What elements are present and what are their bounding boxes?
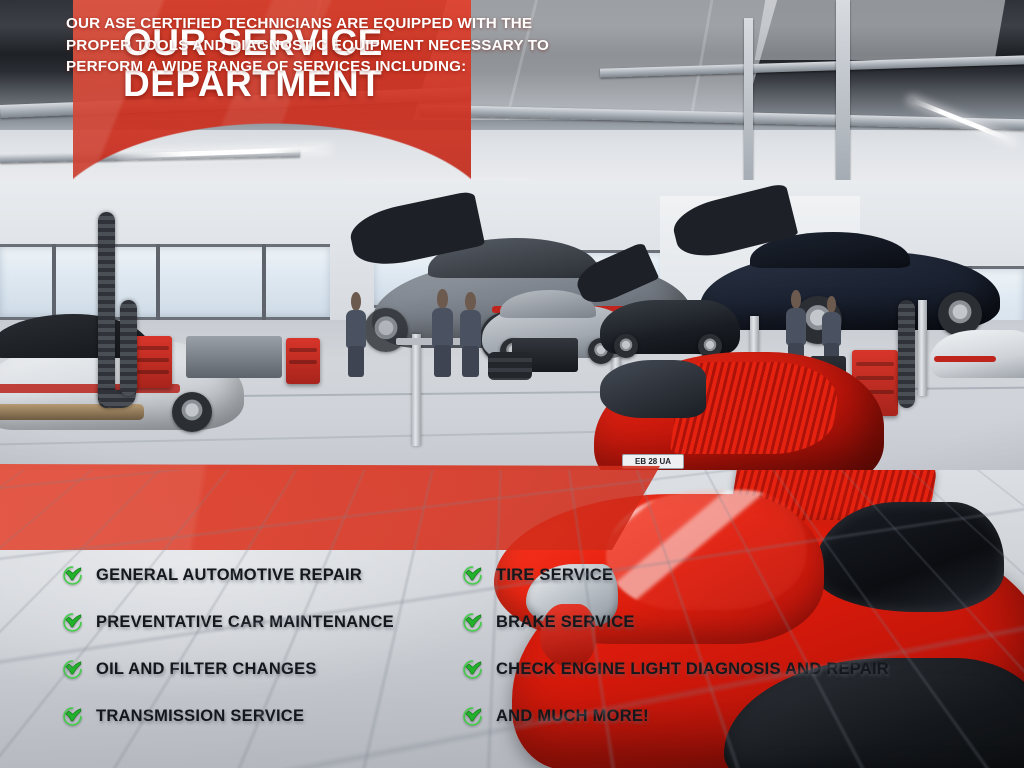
description-band: [0, 464, 660, 550]
list-item-label: GENERAL AUTOMOTIVE REPAIR: [96, 566, 362, 585]
check-icon: [62, 706, 83, 727]
list-item-label: CHECK ENGINE LIGHT DIAGNOSIS AND REPAIR: [496, 660, 889, 679]
list-item-label: OIL AND FILTER CHANGES: [96, 660, 317, 679]
check-icon: [462, 706, 483, 727]
list-item-label: TRANSMISSION SERVICE: [96, 707, 304, 726]
check-icon: [462, 659, 483, 680]
services-column-right: TIRE SERVICE BRAKE SERVICE CHECK ENGINE …: [460, 552, 980, 742]
list-item: PREVENTATIVE CAR MAINTENANCE: [62, 599, 460, 646]
list-item-label: BRAKE SERVICE: [496, 613, 635, 632]
services-lists: GENERAL AUTOMOTIVE REPAIR PREVENTATIVE C…: [0, 552, 1024, 742]
services-column-left: GENERAL AUTOMOTIVE REPAIR PREVENTATIVE C…: [0, 552, 460, 742]
check-icon: [62, 565, 83, 586]
list-item-label: TIRE SERVICE: [496, 566, 613, 585]
list-item: GENERAL AUTOMOTIVE REPAIR: [62, 552, 460, 599]
list-item-label: AND MUCH MORE!: [496, 707, 649, 726]
check-icon: [62, 659, 83, 680]
check-icon: [462, 565, 483, 586]
list-item-label: PREVENTATIVE CAR MAINTENANCE: [96, 613, 394, 632]
list-item: TRANSMISSION SERVICE: [62, 693, 460, 740]
list-item: BRAKE SERVICE: [462, 599, 980, 646]
list-item: CHECK ENGINE LIGHT DIAGNOSIS AND REPAIR: [462, 646, 980, 693]
list-item: TIRE SERVICE: [462, 552, 980, 599]
check-icon: [62, 612, 83, 633]
check-icon: [462, 612, 483, 633]
band-sheen: [0, 464, 660, 550]
service-department-banner: EB 28 UA EB 28 UA OUR SERVICE DEPARTMENT…: [0, 0, 1024, 768]
description-text: OUR ASE CERTIFIED TECHNICIANS ARE EQUIPP…: [66, 13, 626, 78]
list-item: AND MUCH MORE!: [462, 693, 980, 740]
list-item: OIL AND FILTER CHANGES: [62, 646, 460, 693]
